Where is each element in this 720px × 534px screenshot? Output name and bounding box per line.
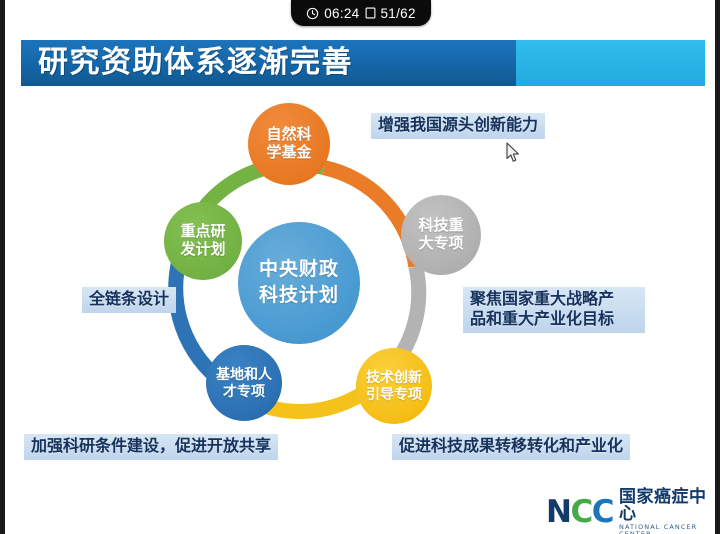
ncc-wordmark: NCC (546, 497, 613, 528)
ncc-logo: NCC 国家癌症中心 NATIONAL CANCER CENTER (546, 488, 720, 534)
callout-research-conditions: 加强科研条件建设，促进开放共享 (24, 434, 278, 460)
node-base-line2: 才专项 (223, 383, 265, 400)
page-title: 研究资助体系逐渐完善 (38, 48, 353, 78)
node-center-line1: 中央财政 (259, 257, 339, 283)
callout-strategic-line2: 品和重大产业化目标 (470, 311, 614, 328)
diagram-node-nsfc[interactable]: 自然科 学基金 (248, 103, 330, 185)
callout-strategic: 聚焦国家重大战略产 品和重大产业化目标 (463, 287, 645, 333)
slide-viewer: 06:24 51/62 研究资助体系逐渐完善 (0, 0, 720, 534)
ncc-letter-n: N (546, 494, 570, 530)
node-center-line2: 科技计划 (259, 283, 339, 309)
elapsed-time: 06:24 (324, 6, 359, 21)
diagram-node-major-project[interactable]: 科技重 大专项 (401, 195, 481, 275)
node-major-line1: 科技重 (418, 217, 463, 235)
status-pill: 06:24 51/62 (291, 0, 431, 26)
callout-innovation: 增强我国源头创新能力 (371, 113, 545, 139)
callout-tech-transfer: 促进科技成果转移转化和产业化 (392, 434, 630, 460)
clock-icon (306, 7, 319, 20)
diagram-node-base-talent[interactable]: 基地和人 才专项 (206, 345, 282, 421)
funding-system-diagram: 中央财政 科技计划 自然科 学基金 科技重 大专项 技术创新 引导专项 基地和人… (150, 103, 502, 463)
slide-title-bar: 研究资助体系逐渐完善 (21, 40, 705, 86)
slide-page-icon (365, 7, 376, 19)
callout-strategic-line1: 聚焦国家重大战略产 (470, 291, 614, 308)
node-nsfc-line2: 学基金 (266, 144, 311, 162)
node-tech-line2: 引导专项 (366, 386, 422, 403)
node-keyrd-line2: 发计划 (180, 241, 225, 259)
callout-full-chain: 全链条设计 (82, 287, 176, 313)
page-counter: 51/62 (381, 6, 416, 21)
diagram-node-tech-innovation[interactable]: 技术创新 引导专项 (356, 348, 432, 424)
ncc-letter-c2: C (592, 494, 613, 530)
title-bar-dark-panel: 研究资助体系逐渐完善 (21, 40, 516, 86)
ncc-name-en: NATIONAL CANCER CENTER (619, 524, 720, 534)
diagram-node-center[interactable]: 中央财政 科技计划 (238, 222, 360, 344)
ncc-letter-c1: C (570, 494, 591, 530)
node-major-line2: 大专项 (418, 235, 463, 253)
node-base-line1: 基地和人 (216, 366, 272, 383)
ncc-name-block: 国家癌症中心 NATIONAL CANCER CENTER (619, 488, 720, 534)
title-bar-accent-panel (516, 40, 705, 86)
diagram-node-key-rd[interactable]: 重点研 发计划 (164, 202, 242, 280)
node-keyrd-line1: 重点研 (180, 223, 225, 241)
viewer-right-border (715, 0, 720, 534)
viewer-left-border (0, 0, 5, 534)
node-nsfc-line1: 自然科 (266, 126, 311, 144)
mouse-pointer-icon (506, 142, 521, 168)
ncc-name-cn: 国家癌症中心 (619, 488, 720, 522)
node-tech-line1: 技术创新 (366, 369, 422, 386)
